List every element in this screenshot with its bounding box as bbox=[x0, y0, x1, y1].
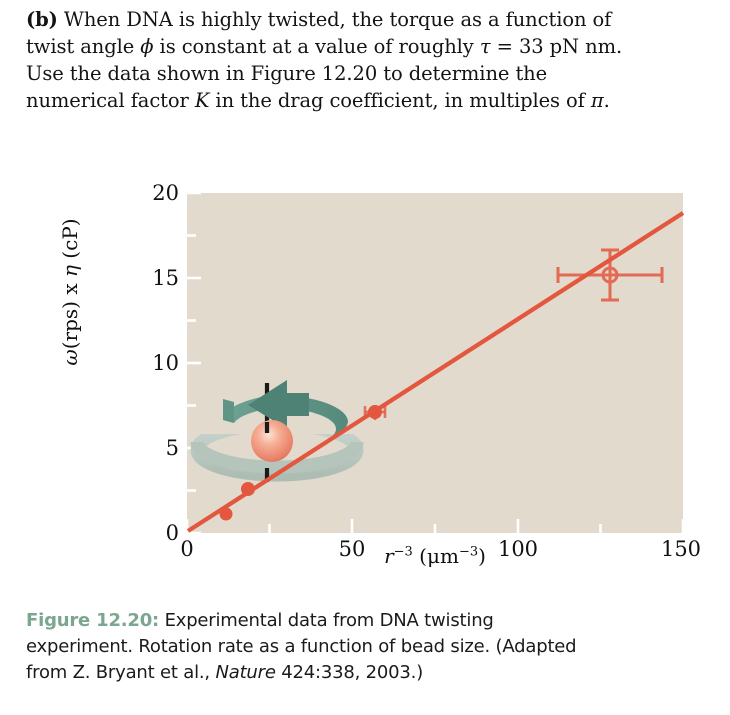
caption-line-3b: 424:338, 2003.) bbox=[276, 662, 423, 683]
y-tick-20: 20 bbox=[137, 183, 179, 204]
x-axis-title: r−3 (μm−3) bbox=[187, 544, 683, 568]
tau-symbol: τ bbox=[480, 35, 491, 58]
problem-line-2c: = 33 pN nm. bbox=[491, 35, 623, 58]
caption-line-3a: from Z. Bryant et al., bbox=[26, 662, 215, 683]
bead-icon bbox=[251, 420, 293, 462]
data-point bbox=[242, 483, 255, 496]
y-tick-15: 15 bbox=[137, 268, 179, 289]
caption-line-2: experiment. Rotation rate as a function … bbox=[26, 636, 576, 657]
problem-line-2a: twist angle bbox=[26, 35, 140, 58]
caption-line-1: Experimental data from DNA twisting bbox=[159, 610, 494, 631]
figure-caption: Figure 12.20: Experimental data from DNA… bbox=[26, 608, 716, 686]
plot-svg bbox=[0, 150, 730, 570]
y-axis-tick-labels: 20 15 10 5 0 bbox=[135, 150, 179, 570]
caption-figure-label: Figure 12.20: bbox=[26, 610, 159, 631]
y-tick-10: 10 bbox=[137, 353, 179, 374]
pi-symbol: π bbox=[591, 89, 604, 112]
figure-12-20: 20 15 10 5 0 0 50 100 150 ω(rps) x η (cP… bbox=[0, 150, 730, 570]
x-axis-ticks bbox=[187, 519, 683, 533]
problem-line-3: Use the data shown in Figure 12.20 to de… bbox=[26, 62, 547, 85]
caption-journal-name: Nature bbox=[215, 662, 275, 683]
y-tick-5: 5 bbox=[137, 438, 179, 459]
k-symbol: K bbox=[195, 89, 209, 112]
problem-statement: (b) When DNA is highly twisted, the torq… bbox=[26, 6, 716, 114]
problem-line-4b: in the drag coefficient, in multiples of bbox=[209, 89, 591, 112]
data-point bbox=[369, 406, 382, 419]
problem-line-2b: is constant at a value of roughly bbox=[153, 35, 479, 58]
data-point-with-errorbars bbox=[558, 250, 662, 300]
problem-line-4a: numerical factor bbox=[26, 89, 195, 112]
problem-part-label: (b) bbox=[26, 8, 58, 31]
data-point bbox=[220, 508, 232, 520]
phi-symbol: ϕ bbox=[140, 35, 153, 58]
y-axis-ticks bbox=[187, 193, 201, 533]
problem-line-1: When DNA is highly twisted, the torque a… bbox=[58, 8, 611, 31]
y-axis-title: ω(rps) x η (cP) bbox=[58, 162, 82, 422]
problem-line-4c: . bbox=[604, 89, 610, 112]
